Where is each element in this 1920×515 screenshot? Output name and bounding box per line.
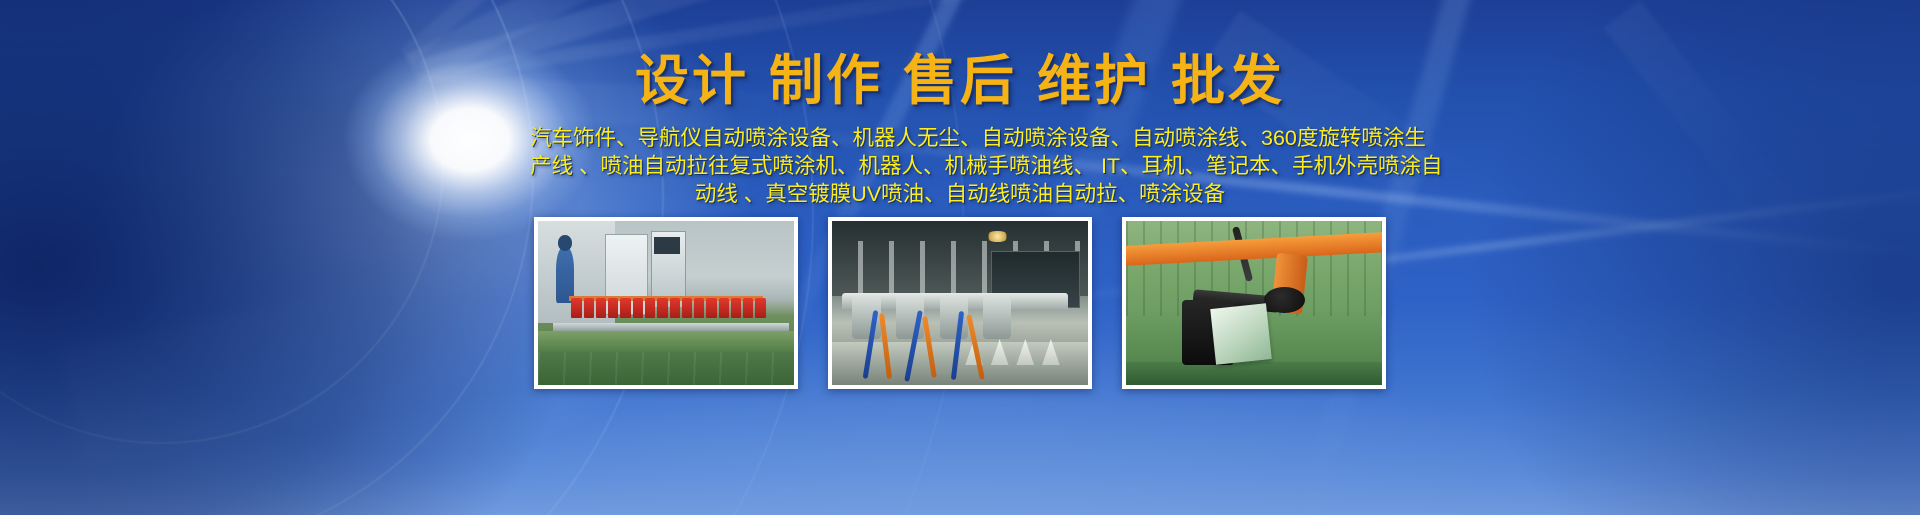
headline-word-3: 售后	[903, 51, 1017, 111]
headline-word-1: 设计	[635, 51, 749, 111]
banner-subtitle: 汽车饰件、导航仪自动喷涂设备、机器人无尘、自动喷涂设备、自动喷涂线、360度旋转…	[530, 124, 1390, 208]
subtitle-line-3: 动线 、真空镀膜UV喷油、自动线喷油自动拉、喷涂设备	[530, 180, 1390, 208]
banner-headline: 设计制作售后维护批发	[0, 52, 1920, 110]
subtitle-line-1: 汽车饰件、导航仪自动喷涂设备、机器人无尘、自动喷涂设备、自动喷涂线、360度旋转…	[530, 124, 1390, 152]
photo-strip	[534, 217, 1386, 389]
headline-word-5: 批发	[1171, 51, 1285, 111]
banner-content: 设计制作售后维护批发 汽车饰件、导航仪自动喷涂设备、机器人无尘、自动喷涂设备、自…	[0, 0, 1920, 515]
subtitle-line-2: 产线 、喷油自动拉往复式喷涂机、机器人、机械手喷油线、 IT、耳机、笔记本、手机…	[530, 152, 1390, 180]
photo-spray-line	[534, 217, 798, 389]
photo-robot-arm	[1122, 217, 1386, 389]
promo-banner: 设计制作售后维护批发 汽车饰件、导航仪自动喷涂设备、机器人无尘、自动喷涂设备、自…	[0, 0, 1920, 515]
photo-spray-guns	[828, 217, 1092, 389]
headline-word-4: 维护	[1037, 51, 1151, 111]
headline-word-2: 制作	[769, 51, 883, 111]
